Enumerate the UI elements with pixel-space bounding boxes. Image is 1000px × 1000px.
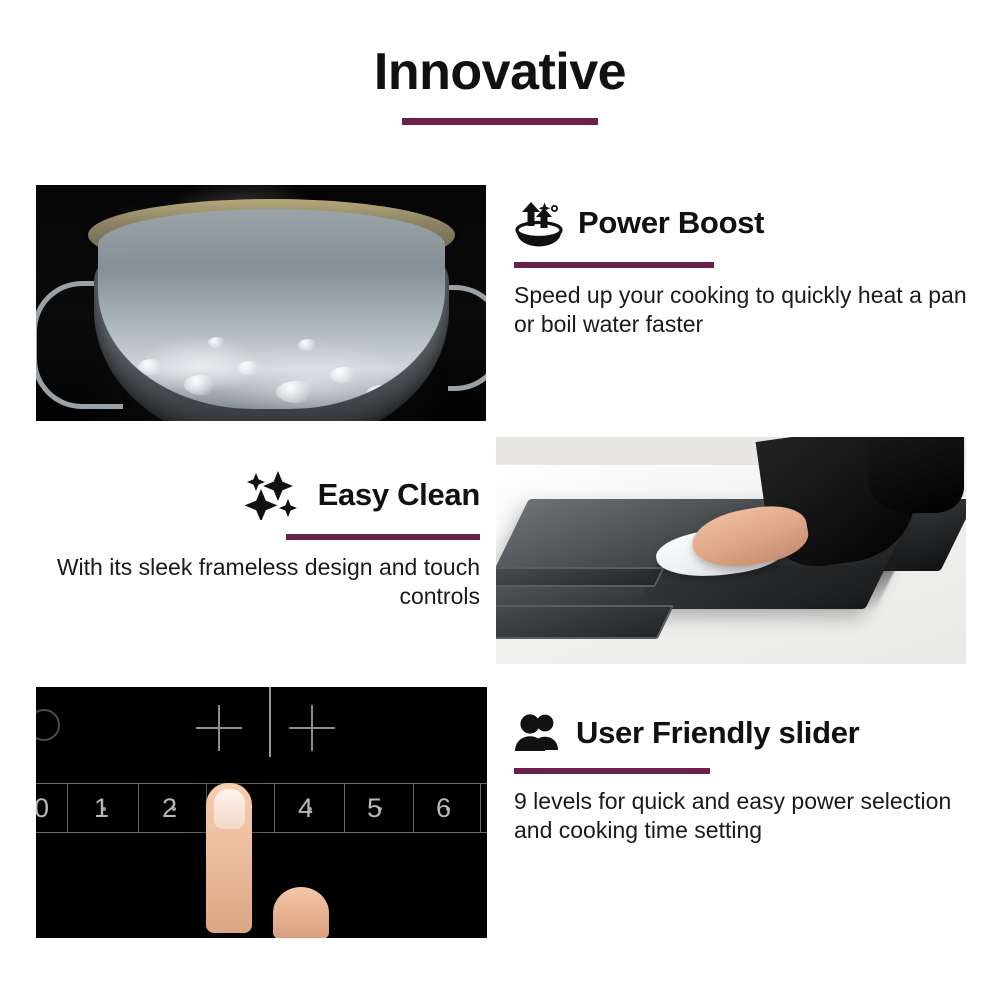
feature-heading-row: Power Boost xyxy=(514,198,974,248)
downdraft-vent xyxy=(496,605,674,639)
feature-description: With its sleek frameless design and touc… xyxy=(28,553,480,611)
title-underline xyxy=(402,118,598,125)
slider-level-2: 2 xyxy=(162,793,177,824)
feature-power-boost: Power Boost Speed up your cooking to qui… xyxy=(514,198,974,339)
feature-description: Speed up your cooking to quickly heat a … xyxy=(514,281,974,339)
feature-heading-row: Easy Clean xyxy=(28,470,480,520)
feature-easy-clean: Easy Clean With its sleek frameless desi… xyxy=(28,470,480,611)
downdraft-vent xyxy=(496,567,665,587)
feature-underline xyxy=(514,768,710,774)
page-header: Innovative xyxy=(0,0,1000,125)
slider-level-6: 6 xyxy=(436,793,451,824)
slider-controls-photo: 0 1 2 4 5 6 xyxy=(36,687,487,938)
slider-level-5: 5 xyxy=(367,793,382,824)
plus-icon xyxy=(196,705,242,751)
feature-underline xyxy=(514,262,714,268)
feature-title: Power Boost xyxy=(578,207,764,240)
feature-underline xyxy=(286,534,480,540)
sparkles-icon xyxy=(244,470,306,520)
pot-boost-arrows-icon xyxy=(514,198,566,248)
feature-title: Easy Clean xyxy=(318,479,480,512)
feature-description: 9 levels for quick and easy power select… xyxy=(514,787,984,845)
feature-heading-row: User Friendly slider xyxy=(514,712,984,754)
power-slider-band: 0 1 2 4 5 6 xyxy=(36,783,487,833)
slider-level-1: 1 xyxy=(94,793,109,824)
pot-handle-right xyxy=(448,285,486,391)
fingernail xyxy=(214,789,245,829)
power-indicator-circle xyxy=(36,709,60,741)
slider-level-4: 4 xyxy=(298,793,313,824)
boiling-pot-photo xyxy=(36,185,486,421)
plus-icon xyxy=(289,705,335,751)
wiping-hob-photo xyxy=(496,437,966,664)
thumb-knuckle xyxy=(273,887,329,938)
feature-title: User Friendly slider xyxy=(576,717,859,750)
page-title: Innovative xyxy=(0,0,1000,102)
slider-level-0: 0 xyxy=(36,793,49,824)
person-shoulder xyxy=(868,437,964,513)
two-people-icon xyxy=(514,712,564,754)
feature-user-friendly-slider: User Friendly slider 9 levels for quick … xyxy=(514,712,984,845)
control-divider xyxy=(269,687,271,757)
